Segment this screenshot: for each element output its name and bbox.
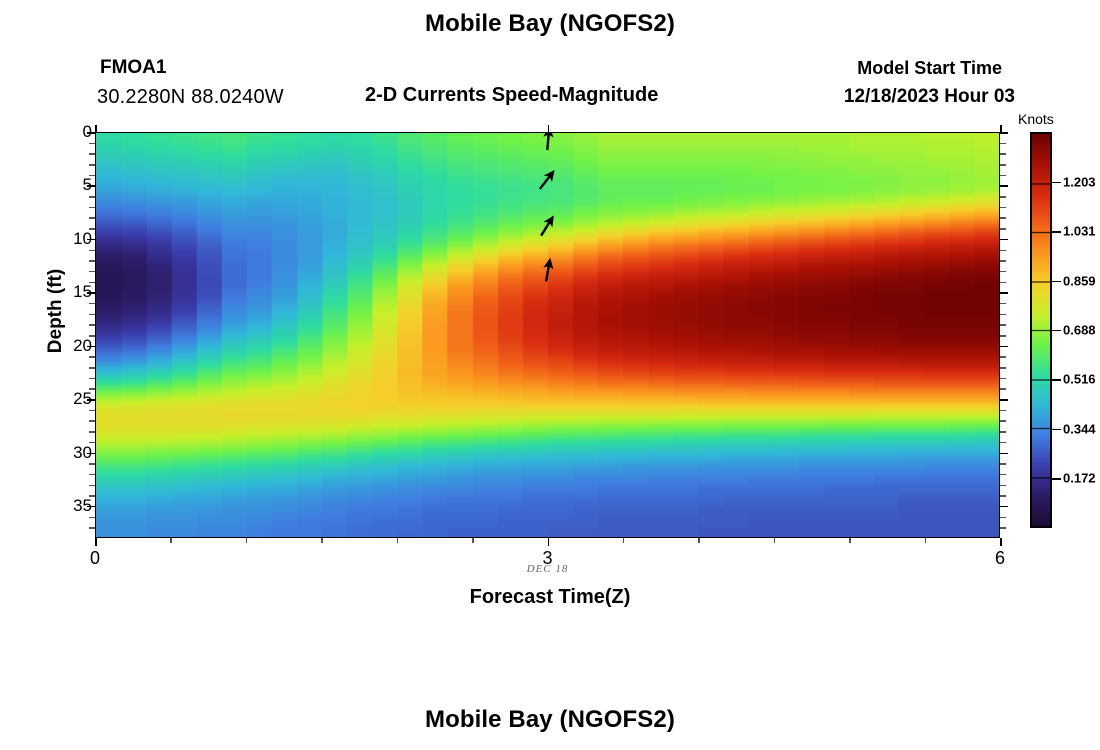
y-axis-minor-tick bbox=[1000, 196, 1006, 198]
x-axis-tick-mark bbox=[548, 538, 550, 546]
y-axis-minor-tick bbox=[1000, 260, 1006, 262]
x-axis-tick-mark bbox=[95, 538, 97, 546]
x-axis-minor-tick bbox=[321, 538, 323, 543]
y-axis-tick-mark bbox=[1000, 453, 1008, 455]
y-axis-tick-mark bbox=[1000, 239, 1008, 241]
y-axis-tick-label: 10 bbox=[52, 229, 92, 249]
colorbar-tick-mark bbox=[1052, 429, 1061, 431]
y-axis-minor-tick bbox=[1000, 207, 1006, 209]
y-axis-minor-tick bbox=[1000, 378, 1006, 380]
y-axis-tick-label: 0 bbox=[52, 122, 92, 142]
y-axis-minor-tick bbox=[1000, 271, 1006, 273]
y-axis-minor-tick bbox=[1000, 282, 1006, 284]
x-axis-minor-tick bbox=[849, 538, 851, 543]
y-axis-tick-mark bbox=[1000, 132, 1008, 134]
colorbar-tick-mark bbox=[1052, 231, 1061, 233]
y-axis-tick-label: 30 bbox=[52, 443, 92, 463]
y-axis-tick-mark bbox=[87, 399, 95, 401]
colorbar-tick-label: 1.203 bbox=[1063, 174, 1096, 189]
y-axis-tick-mark bbox=[1000, 506, 1008, 508]
colorbar-tick-label: 0.344 bbox=[1063, 421, 1096, 436]
y-axis-tick-mark bbox=[87, 239, 95, 241]
y-axis-minor-tick bbox=[1000, 495, 1006, 497]
y-axis-tick-mark bbox=[1000, 185, 1008, 187]
page-title-bottom: Mobile Bay (NGOFS2) bbox=[0, 706, 1100, 734]
y-axis-tick-mark bbox=[1000, 399, 1008, 401]
y-axis-minor-tick bbox=[1000, 388, 1006, 390]
heatmap-plot-area bbox=[95, 132, 1000, 538]
y-axis-tick-mark bbox=[87, 292, 95, 294]
y-axis-minor-tick bbox=[1000, 303, 1006, 305]
x-axis-tick-label: 6 bbox=[970, 548, 1030, 569]
y-axis-tick-label: 5 bbox=[52, 175, 92, 195]
station-coordinates-label: 30.2280N 88.0240W bbox=[97, 86, 284, 109]
x-axis-minor-tick bbox=[774, 538, 776, 543]
colorbar-tick-label: 0.516 bbox=[1063, 372, 1096, 387]
y-axis-minor-tick bbox=[1000, 217, 1006, 219]
x-axis-tick-mark-top bbox=[95, 125, 97, 132]
model-start-time-value: 12/18/2023 Hour 03 bbox=[844, 86, 1015, 108]
colorbar-tick-label: 0.859 bbox=[1063, 273, 1096, 288]
x-axis-minor-tick bbox=[623, 538, 625, 543]
y-axis-minor-tick bbox=[1000, 517, 1006, 519]
current-direction-arrow-layer bbox=[96, 133, 1000, 538]
y-axis-tick-mark bbox=[87, 453, 95, 455]
y-axis-tick-mark bbox=[87, 506, 95, 508]
chart-page: Mobile Bay (NGOFS2) FMOA1 30.2280N 88.02… bbox=[0, 0, 1100, 750]
y-axis-minor-tick bbox=[1000, 143, 1006, 145]
x-axis-minor-tick bbox=[698, 538, 700, 543]
y-axis-minor-tick bbox=[1000, 410, 1006, 412]
y-axis-tick-label: 20 bbox=[52, 336, 92, 356]
colorbar-tick-mark bbox=[1052, 182, 1061, 184]
y-axis-minor-tick bbox=[1000, 228, 1006, 230]
y-axis-tick-mark bbox=[87, 185, 95, 187]
y-axis-minor-tick bbox=[1000, 442, 1006, 444]
y-axis-minor-tick bbox=[1000, 485, 1006, 487]
x-axis-minor-tick bbox=[472, 538, 474, 543]
colorbar-tick-mark bbox=[1052, 478, 1061, 480]
y-axis-minor-tick bbox=[1000, 324, 1006, 326]
y-axis-minor-tick bbox=[1000, 527, 1006, 529]
x-axis-label: Forecast Time(Z) bbox=[0, 586, 1100, 609]
colorbar-tick-label: 1.031 bbox=[1063, 224, 1096, 239]
y-axis-minor-tick bbox=[1000, 420, 1006, 422]
current-direction-arrow bbox=[537, 213, 559, 239]
y-axis-tick-mark bbox=[87, 346, 95, 348]
y-axis-minor-tick bbox=[1000, 175, 1006, 177]
x-axis-minor-tick bbox=[397, 538, 399, 543]
colorbar-tick-mark bbox=[1052, 379, 1061, 381]
y-axis-tick-label: 35 bbox=[52, 496, 92, 516]
y-axis-minor-tick bbox=[1000, 474, 1006, 476]
y-axis-minor-tick bbox=[1000, 153, 1006, 155]
x-axis-tick-mark-top bbox=[1000, 125, 1002, 132]
y-axis-tick-label: 15 bbox=[52, 282, 92, 302]
x-axis-minor-tick bbox=[246, 538, 248, 543]
model-start-time-label: Model Start Time bbox=[857, 58, 1002, 79]
y-axis-tick-label: 25 bbox=[52, 389, 92, 409]
y-axis-minor-tick bbox=[1000, 431, 1006, 433]
y-axis-minor-tick bbox=[1000, 356, 1006, 358]
x-axis-tick-label: 0 bbox=[65, 548, 125, 569]
y-axis-minor-tick bbox=[1000, 314, 1006, 316]
y-axis-tick-mark bbox=[1000, 346, 1008, 348]
y-axis-minor-tick bbox=[1000, 164, 1006, 166]
colorbar bbox=[1030, 132, 1052, 528]
colorbar-title: Knots bbox=[1018, 111, 1054, 127]
y-axis-minor-tick bbox=[1000, 250, 1006, 252]
colorbar-tick-mark bbox=[1052, 330, 1061, 332]
colorbar-tick-label: 0.172 bbox=[1063, 471, 1096, 486]
y-axis-minor-tick bbox=[1000, 335, 1006, 337]
x-axis-minor-tick bbox=[925, 538, 927, 543]
y-axis-minor-tick bbox=[1000, 463, 1006, 465]
current-direction-arrow bbox=[536, 167, 559, 192]
current-direction-arrow bbox=[541, 257, 555, 282]
y-axis-minor-tick bbox=[1000, 367, 1006, 369]
x-axis-tick-mark-top bbox=[548, 125, 550, 132]
colorbar-gradient bbox=[1032, 134, 1050, 526]
chart-subtitle: 2-D Currents Speed-Magnitude bbox=[365, 84, 658, 107]
y-axis-tick-mark bbox=[1000, 292, 1008, 294]
y-axis-tick-mark bbox=[87, 132, 95, 134]
x-axis-date-sublabel: DEC 18 bbox=[527, 563, 569, 575]
current-direction-arrow bbox=[542, 133, 554, 151]
x-axis-tick-mark bbox=[1000, 538, 1002, 546]
colorbar-tick-label: 0.688 bbox=[1063, 322, 1096, 337]
x-axis-minor-tick bbox=[170, 538, 172, 543]
station-id-label: FMOA1 bbox=[100, 57, 167, 79]
colorbar-tick-mark bbox=[1052, 281, 1061, 283]
page-title: Mobile Bay (NGOFS2) bbox=[0, 10, 1100, 38]
